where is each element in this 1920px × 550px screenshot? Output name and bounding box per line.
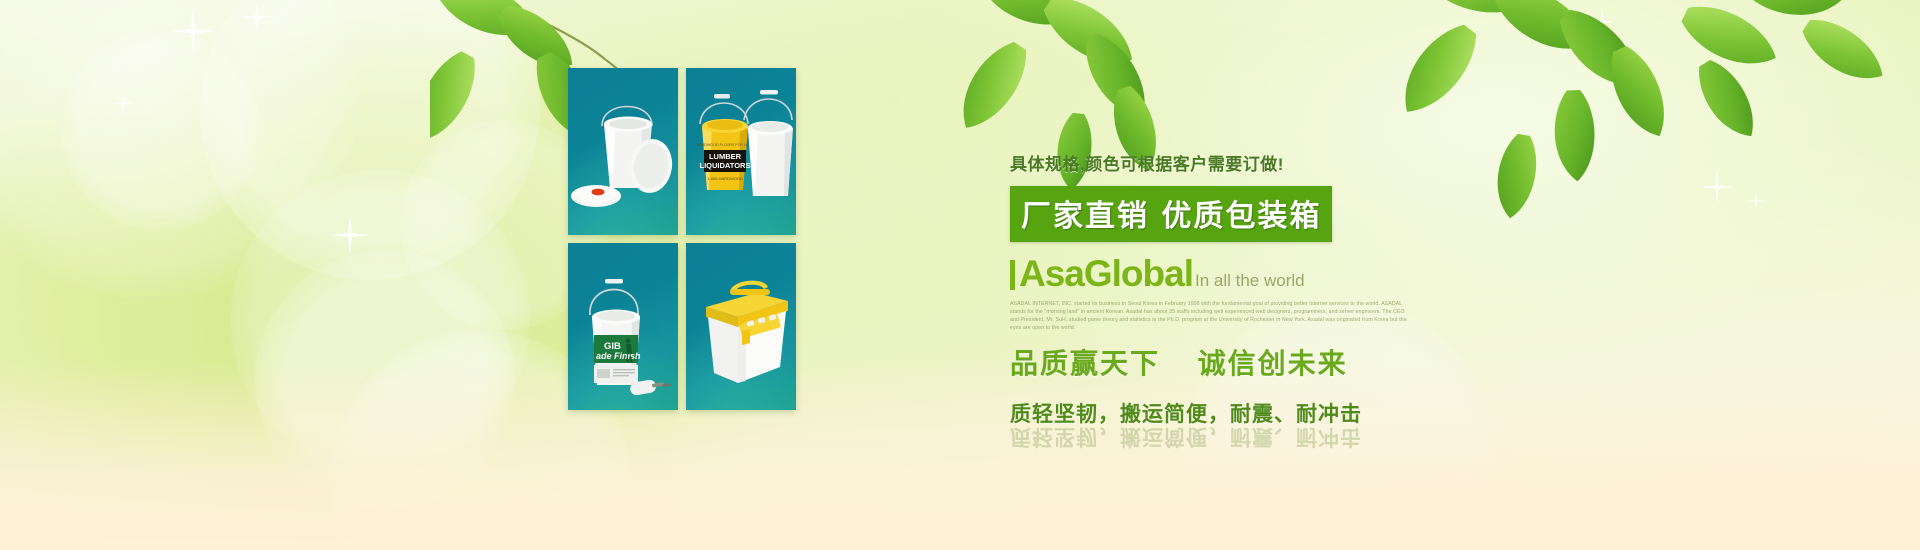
product-image-yellow-and-white-pails: LUMBER LIQUIDATORS HARDWOOD FLOORS FOR L… [690, 74, 796, 234]
svg-text:1-800-HARDWOOD: 1-800-HARDWOOD [707, 176, 743, 181]
company-blurb: ASADAL INTERNET, INC. started its busine… [1010, 300, 1410, 332]
spec-note: 具体规格,颜色可根据客户需要订做! [1010, 150, 1430, 175]
copy-block: 具体规格,颜色可根据客户需要订做! 厂家直销 优质包装箱 AsaGlobal I… [1010, 150, 1430, 428]
features-line-wrap: 质轻坚韧，搬运简便，耐震、耐冲击 质轻坚韧，搬运简便，耐震、耐冲击 [1010, 398, 1430, 428]
product-image-white-container-yellow-lid [694, 271, 794, 391]
gallery-tile-4[interactable] [686, 243, 796, 410]
brand-lockup: AsaGlobal In all the world [1010, 255, 1430, 292]
svg-text:ade Finish: ade Finish [596, 351, 641, 361]
svg-text:LUMBER: LUMBER [709, 152, 742, 161]
promo-banner: LUMBER LIQUIDATORS HARDWOOD FLOORS FOR L… [0, 0, 1920, 550]
gallery-tile-2[interactable]: LUMBER LIQUIDATORS HARDWOOD FLOORS FOR L… [686, 68, 796, 235]
svg-text:LIQUIDATORS: LIQUIDATORS [700, 161, 751, 170]
brand-accent-bar [1010, 260, 1015, 290]
gallery-tile-3[interactable]: GIB ade Finish [568, 243, 678, 410]
features-line-reflection: 质轻坚韧，搬运简便，耐震、耐冲击 [1010, 423, 1362, 453]
headline-bar: 厂家直销 优质包装箱 [1010, 186, 1332, 242]
svg-text:HARDWOOD FLOORS FOR LESS: HARDWOOD FLOORS FOR LESS [697, 143, 754, 147]
headline-bar-text: 厂家直销 优质包装箱 [1021, 199, 1321, 234]
slogan-left: 品质赢天下 [1010, 348, 1160, 379]
product-image-white-bucket-with-lids [568, 68, 678, 235]
brand-name: AsaGlobal [1019, 255, 1193, 292]
slogan: 品质赢天下 诚信创未来 [1010, 342, 1430, 382]
brand-tagline: In all the world [1195, 272, 1305, 289]
product-gallery: LUMBER LIQUIDATORS HARDWOOD FLOORS FOR L… [568, 68, 796, 410]
slogan-right: 诚信创未来 [1198, 348, 1348, 379]
gallery-tile-1[interactable] [568, 68, 678, 235]
product-image-gib-trade-finish-pail: GIB ade Finish [574, 253, 678, 409]
background-warm-fade [0, 360, 1920, 550]
